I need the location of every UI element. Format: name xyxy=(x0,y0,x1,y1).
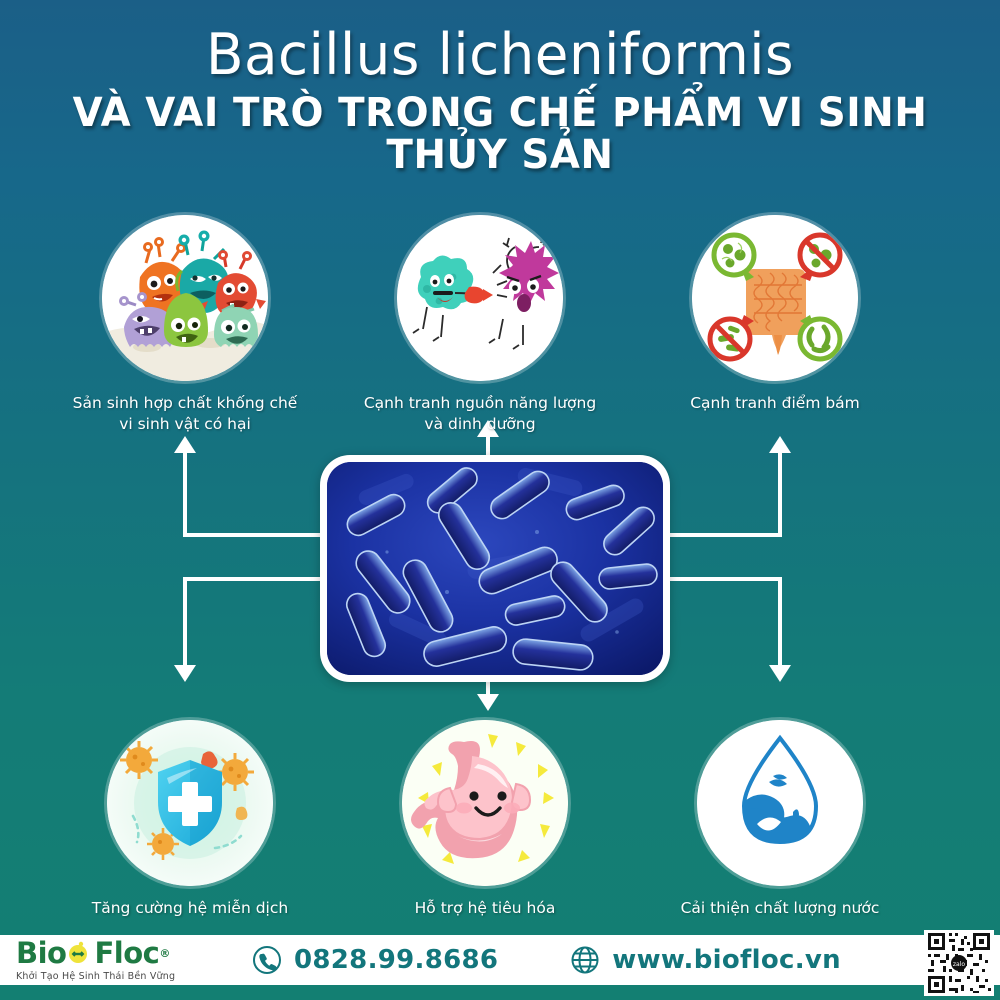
intestine-illustration xyxy=(692,215,858,381)
logo-tagline: Khởi Tạo Hệ Sinh Thái Bền Vững xyxy=(16,971,230,982)
germ-fight-icon xyxy=(397,215,563,381)
germs-illustration xyxy=(102,215,268,381)
logo-floc-text: Floc xyxy=(94,939,159,968)
node-label-water: Cải thiện chất lượng nước xyxy=(655,898,905,919)
phone-contact[interactable]: 0828.99.8686 xyxy=(252,945,498,975)
infographic-poster: Bacillus licheniformis VÀ VAI TRÒ TRONG … xyxy=(0,0,1000,1000)
website-url: www.biofloc.vn xyxy=(612,945,841,975)
node-digestion[interactable]: Hỗ trợ hệ tiêu hóa xyxy=(360,720,610,919)
globe-icon xyxy=(570,945,600,975)
node-label-digestion: Hỗ trợ hệ tiêu hóa xyxy=(360,898,610,919)
logo-bio-text: Bio xyxy=(16,939,66,968)
page-subtitle: VÀ VAI TRÒ TRONG CHẾ PHẨM VI SINH THỦY S… xyxy=(15,92,985,176)
connector-line-left-bottom-horizontal xyxy=(183,577,320,581)
arrow-up-right xyxy=(769,436,791,453)
arrow-down-left xyxy=(174,665,196,682)
connector-line-right-up xyxy=(778,452,782,537)
node-immune[interactable]: Tăng cường hệ miễn dịch xyxy=(65,720,315,919)
qr-code-graphic: zalo xyxy=(924,930,994,996)
node-adhesion[interactable]: Cạnh tranh điểm bám xyxy=(650,215,900,414)
arrow-down-center xyxy=(477,694,499,711)
bacillus-bacteria-photo xyxy=(327,462,663,675)
connector-line-left-down xyxy=(183,577,187,667)
water-drop-illustration xyxy=(697,720,863,886)
node-antimicrobial[interactable]: Sản sinh hợp chất khống chế vi sinh vật … xyxy=(60,215,310,435)
stomach-illustration xyxy=(402,720,568,886)
arrow-up-left xyxy=(174,436,196,453)
logo-registered-mark: ® xyxy=(159,948,170,959)
connector-line-right-down xyxy=(778,577,782,667)
phone-icon xyxy=(252,945,282,975)
node-nutrient[interactable]: Cạnh tranh nguồn năng lượng và dinh dưỡn… xyxy=(355,215,605,435)
logo-dash-icon xyxy=(67,941,93,965)
node-label-adhesion: Cạnh tranh điểm bám xyxy=(650,393,900,414)
phone-number: 0828.99.8686 xyxy=(294,945,498,975)
website-contact[interactable]: www.biofloc.vn xyxy=(570,945,841,975)
arrow-down-right xyxy=(769,665,791,682)
node-water[interactable]: Cải thiện chất lượng nước xyxy=(655,720,905,919)
node-label-antimicrobial: Sản sinh hợp chất khống chế vi sinh vật … xyxy=(60,393,310,435)
connector-line-left-top-horizontal xyxy=(183,533,320,537)
connector-line-center-up xyxy=(486,435,490,457)
node-label-immune: Tăng cường hệ miễn dịch xyxy=(65,898,315,919)
center-bacteria-card xyxy=(320,455,670,682)
bacteria-illustration xyxy=(327,462,663,675)
header: Bacillus licheniformis VÀ VAI TRÒ TRONG … xyxy=(0,26,1000,176)
water-drop-icon xyxy=(697,720,863,886)
node-label-nutrient: Cạnh tranh nguồn năng lượng và dinh dưỡn… xyxy=(355,393,605,435)
happy-stomach-icon xyxy=(402,720,568,886)
intestine-bacteria-icon xyxy=(692,215,858,381)
connector-line-right-top-horizontal xyxy=(670,533,782,537)
cartoon-germs-icon xyxy=(102,215,268,381)
svg-text:zalo: zalo xyxy=(953,961,965,968)
germ-fight-illustration xyxy=(397,215,563,381)
brand-logo[interactable]: Bio Floc ® Khởi Tạo Hệ Sinh Thái Bền Vữn… xyxy=(0,939,230,982)
footer-bar: Bio Floc ® Khởi Tạo Hệ Sinh Thái Bền Vữn… xyxy=(0,935,1000,985)
connector-line-left-up xyxy=(183,452,187,537)
immune-shield-illustration xyxy=(107,720,273,886)
shield-cross-icon xyxy=(107,720,273,886)
qr-code-icon[interactable]: zalo xyxy=(924,930,994,996)
logo-wordmark: Bio Floc ® xyxy=(16,939,230,968)
page-title: Bacillus licheniformis xyxy=(20,26,980,84)
connector-line-right-bottom-horizontal xyxy=(670,577,782,581)
